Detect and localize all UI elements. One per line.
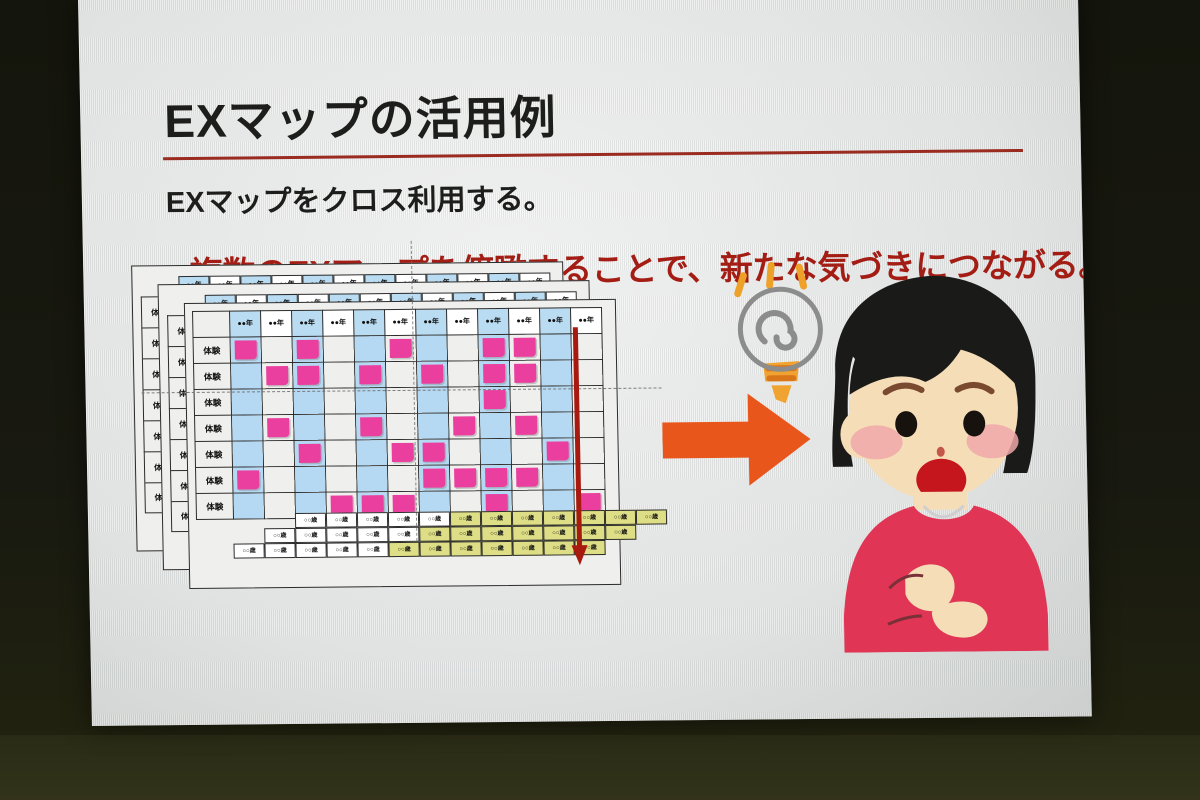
surprised-woman-illustration	[723, 251, 1061, 654]
room-floor	[0, 735, 1200, 800]
projection-screen: EXマップの活用例 EXマップをクロス利用する。 ・複数のEXマップを俯瞰するこ…	[78, 0, 1092, 726]
ex-map-stack: ●●年●●年●●年●●年●●年●●年●●年●●年●●年●●年●●年●●年 体験体…	[131, 260, 697, 605]
ex-map-table: ●●年●●年●●年●●年●●年●●年●●年●●年●●年●●年●●年●●年 体験体…	[184, 299, 621, 589]
woman-figure	[829, 275, 1049, 653]
lightbulb-icon	[737, 265, 822, 404]
presentation-slide: EXマップの活用例 EXマップをクロス利用する。 ・複数のEXマップを俯瞰するこ…	[78, 0, 1092, 726]
vertical-red-arrow	[184, 299, 622, 603]
age-legend-cell[interactable]: ○○歳	[636, 509, 667, 524]
slide-subtitle: EXマップをクロス利用する。	[165, 175, 552, 221]
page-title: EXマップの活用例	[164, 81, 558, 151]
title-underline	[163, 149, 1023, 160]
